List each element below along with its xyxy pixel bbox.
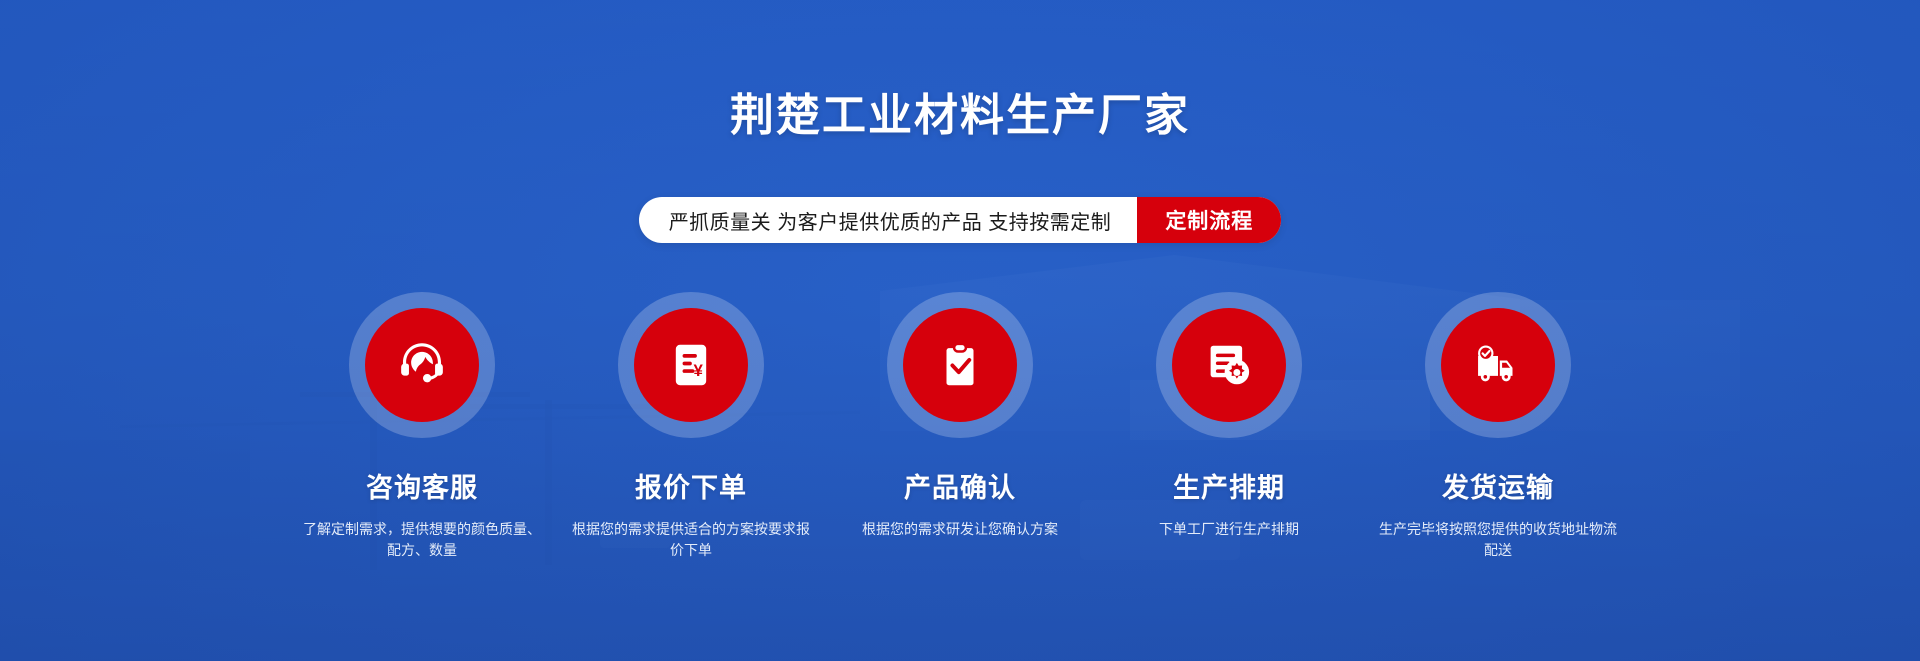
subtitle-bar-wrapper: 严抓质量关 为客户提供优质的产品 支持按需定制 定制流程	[0, 197, 1920, 243]
document-gear-icon	[1201, 337, 1257, 393]
process-step: ¥ 报价下单 根据您的需求提供适合的方案按要求报价下单	[569, 292, 813, 561]
step-icon-circle	[903, 308, 1017, 422]
banner-content: 荆楚工业材料生产厂家 严抓质量关 为客户提供优质的产品 支持按需定制 定制流程	[0, 0, 1920, 661]
custom-process-button[interactable]: 定制流程	[1137, 197, 1281, 243]
step-icon-circle	[1441, 308, 1555, 422]
step-icon-button-delivery[interactable]	[1425, 292, 1571, 438]
subtitle-text: 严抓质量关 为客户提供优质的产品 支持按需定制	[639, 197, 1138, 243]
process-step: 发货运输 生产完毕将按照您提供的收货地址物流配送	[1376, 292, 1620, 561]
step-title: 咨询客服	[366, 466, 478, 505]
step-icon-button-confirm[interactable]	[887, 292, 1033, 438]
process-step: 生产排期 下单工厂进行生产排期	[1107, 292, 1351, 561]
step-title: 发货运输	[1442, 466, 1554, 505]
process-steps: 咨询客服 了解定制需求，提供想要的颜色质量、配方、数量 ¥	[300, 292, 1620, 561]
process-step: 产品确认 根据您的需求研发让您确认方案	[838, 292, 1082, 561]
process-step: 咨询客服 了解定制需求，提供想要的颜色质量、配方、数量	[300, 292, 544, 561]
step-description: 根据您的需求研发让您确认方案	[840, 519, 1080, 540]
step-title: 产品确认	[904, 466, 1016, 505]
step-icon-button-quote[interactable]: ¥	[618, 292, 764, 438]
delivery-truck-icon	[1469, 336, 1527, 394]
step-icon-button-schedule[interactable]	[1156, 292, 1302, 438]
step-title: 生产排期	[1173, 466, 1285, 505]
svg-text:¥: ¥	[693, 361, 703, 380]
step-icon-circle	[365, 308, 479, 422]
step-icon-button-consult[interactable]	[349, 292, 495, 438]
subtitle-bar: 严抓质量关 为客户提供优质的产品 支持按需定制 定制流程	[639, 197, 1282, 243]
step-icon-circle	[1172, 308, 1286, 422]
clipboard-check-icon	[933, 338, 987, 392]
step-description: 生产完毕将按照您提供的收货地址物流配送	[1378, 519, 1618, 561]
step-description: 根据您的需求提供适合的方案按要求报价下单	[571, 519, 811, 561]
promo-banner: 荆楚工业材料生产厂家 严抓质量关 为客户提供优质的产品 支持按需定制 定制流程	[0, 0, 1920, 661]
step-title: 报价下单	[635, 466, 747, 505]
quote-invoice-icon: ¥	[664, 338, 718, 392]
step-description: 下单工厂进行生产排期	[1109, 519, 1349, 540]
step-description: 了解定制需求，提供想要的颜色质量、配方、数量	[302, 519, 542, 561]
step-icon-circle: ¥	[634, 308, 748, 422]
headset-icon	[393, 336, 451, 394]
page-title: 荆楚工业材料生产厂家	[0, 92, 1920, 140]
